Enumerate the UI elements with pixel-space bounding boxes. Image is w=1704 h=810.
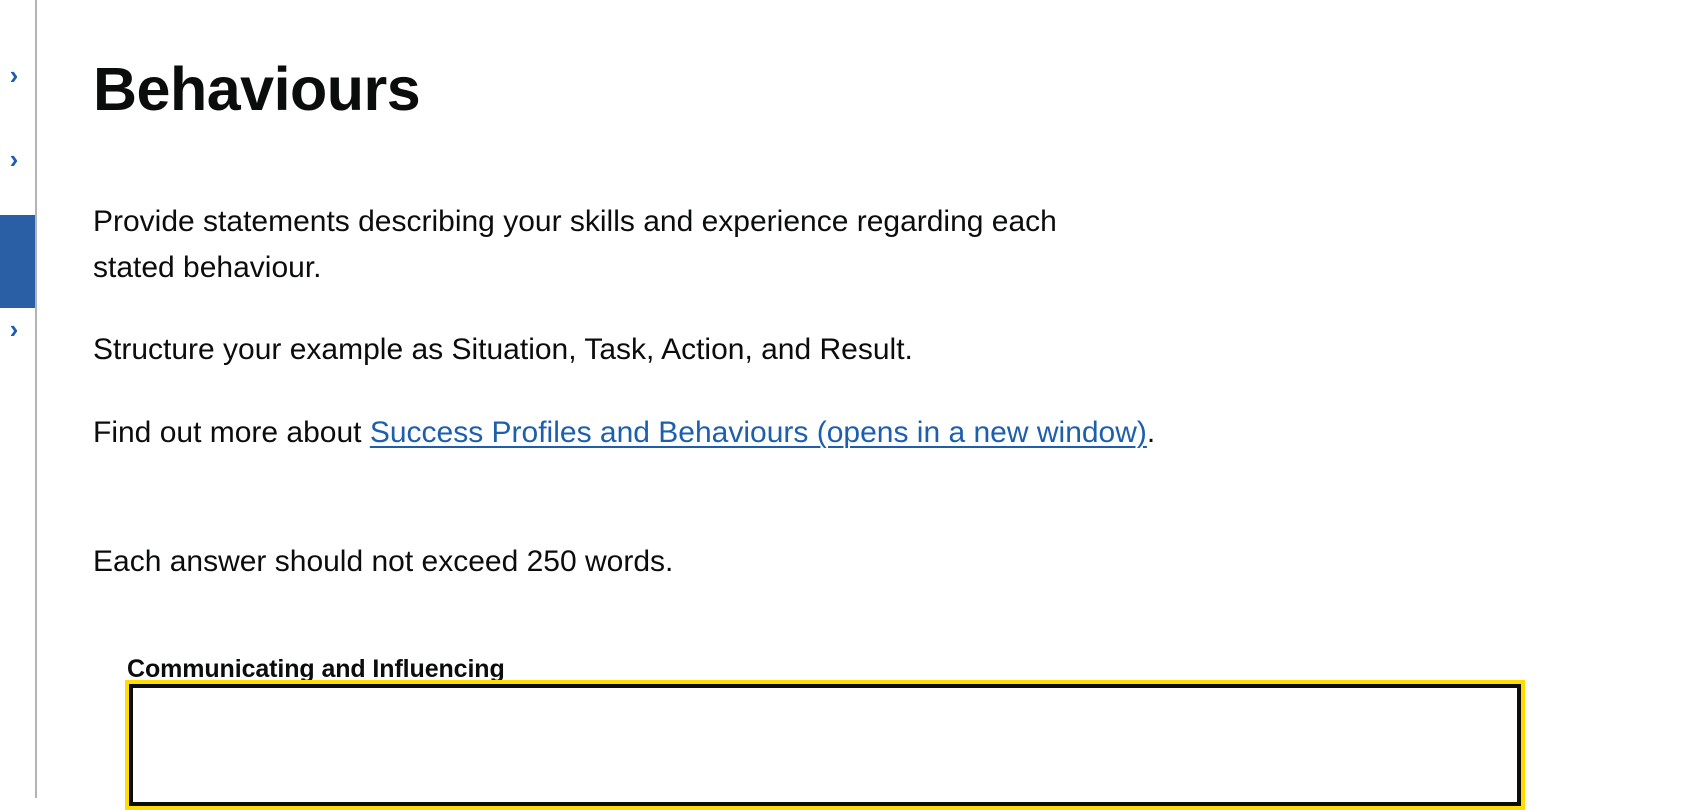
intro-paragraph-1: Provide statements describing your skill…	[93, 199, 1083, 291]
chevron-right-icon: ›	[0, 62, 28, 88]
sidebar-item-step-3-active[interactable]	[0, 215, 35, 308]
page-title: Behaviours	[93, 58, 420, 121]
find-out-more-text: Find out more about	[93, 416, 370, 449]
sidebar-item-step-4[interactable]: ›	[0, 316, 35, 346]
chevron-right-icon: ›	[0, 146, 28, 172]
intro-paragraph-2: Structure your example as Situation, Tas…	[93, 327, 1273, 373]
sidebar-step-nav: › › ›	[0, 0, 37, 798]
behaviours-page: › › › Behaviours Provide statements desc…	[0, 0, 1704, 798]
chevron-right-icon: ›	[0, 316, 28, 342]
intro-paragraph-3: Find out more about Success Profiles and…	[93, 410, 1203, 456]
answer-textarea-wrapper	[125, 680, 1525, 810]
sentence-period: .	[1147, 416, 1155, 449]
sidebar-item-step-1[interactable]: ›	[0, 62, 35, 92]
answer-textarea-border	[129, 684, 1521, 806]
word-limit-paragraph: Each answer should not exceed 250 words.	[93, 539, 1083, 585]
main-content: Behaviours Provide statements describing…	[37, 0, 1704, 798]
sidebar-item-step-2[interactable]: ›	[0, 146, 35, 176]
answer-textarea[interactable]	[133, 688, 1517, 802]
success-profiles-link[interactable]: Success Profiles and Behaviours (opens i…	[370, 416, 1147, 449]
